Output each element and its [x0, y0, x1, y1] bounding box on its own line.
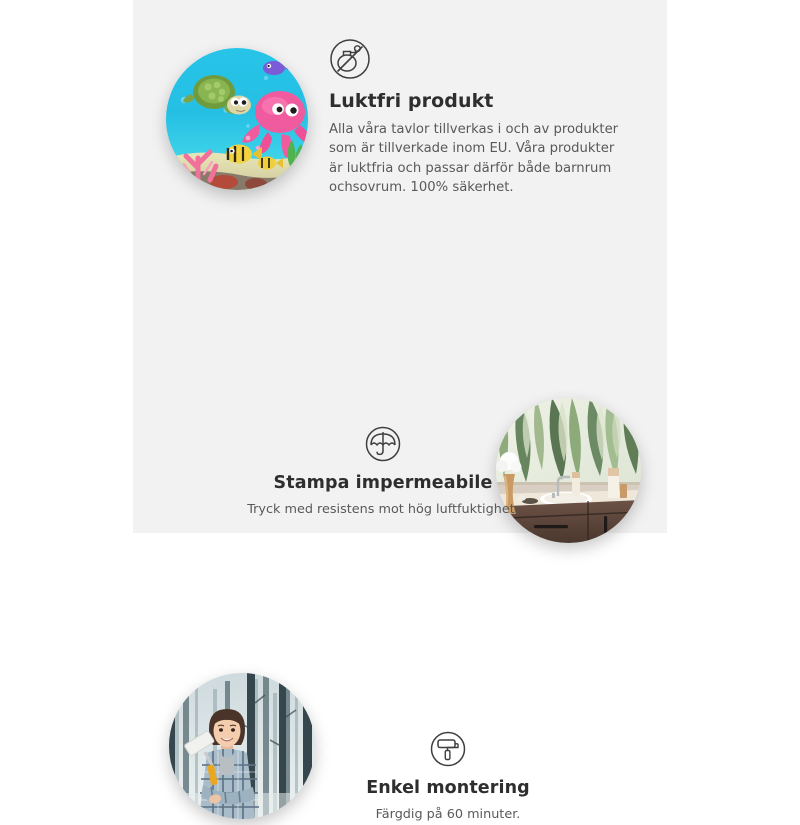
- feature-body: Färgdig på 60 minuter.: [323, 806, 573, 825]
- woman-with-paint-roller-forest-image: [169, 673, 315, 819]
- content-panel: Luktfri produkt Alla våra tavlor tillver…: [133, 0, 667, 533]
- feature-text-odourless: Luktfri produkt Alla våra tavlor tillver…: [329, 38, 629, 198]
- underwater-cartoon-scene-image: [166, 48, 308, 190]
- paint-roller-icon: [427, 728, 469, 770]
- promo-infographic: Luktfri produkt Alla våra tavlor tillver…: [0, 0, 800, 533]
- feature-block-waterproof: Stampa impermeabile Tryck med resistens …: [133, 195, 667, 345]
- feature-block-easy-assembly: Enkel montering Färgdig på 60 minuter.: [133, 335, 667, 500]
- no-fragrance-icon: [329, 38, 371, 80]
- feature-body: Alla våra tavlor tillverkas i och av pro…: [329, 120, 629, 198]
- feature-headline: Luktfri produkt: [329, 90, 629, 114]
- feature-headline: Enkel montering: [323, 778, 573, 800]
- feature-body: Tryck med resistens mot hög luftfuktighe…: [208, 501, 558, 520]
- feature-text-easy-assembly: Enkel montering Färgdig på 60 minuter.: [323, 728, 573, 825]
- feature-block-odourless: Luktfri produkt Alla våra tavlor tillver…: [133, 0, 667, 200]
